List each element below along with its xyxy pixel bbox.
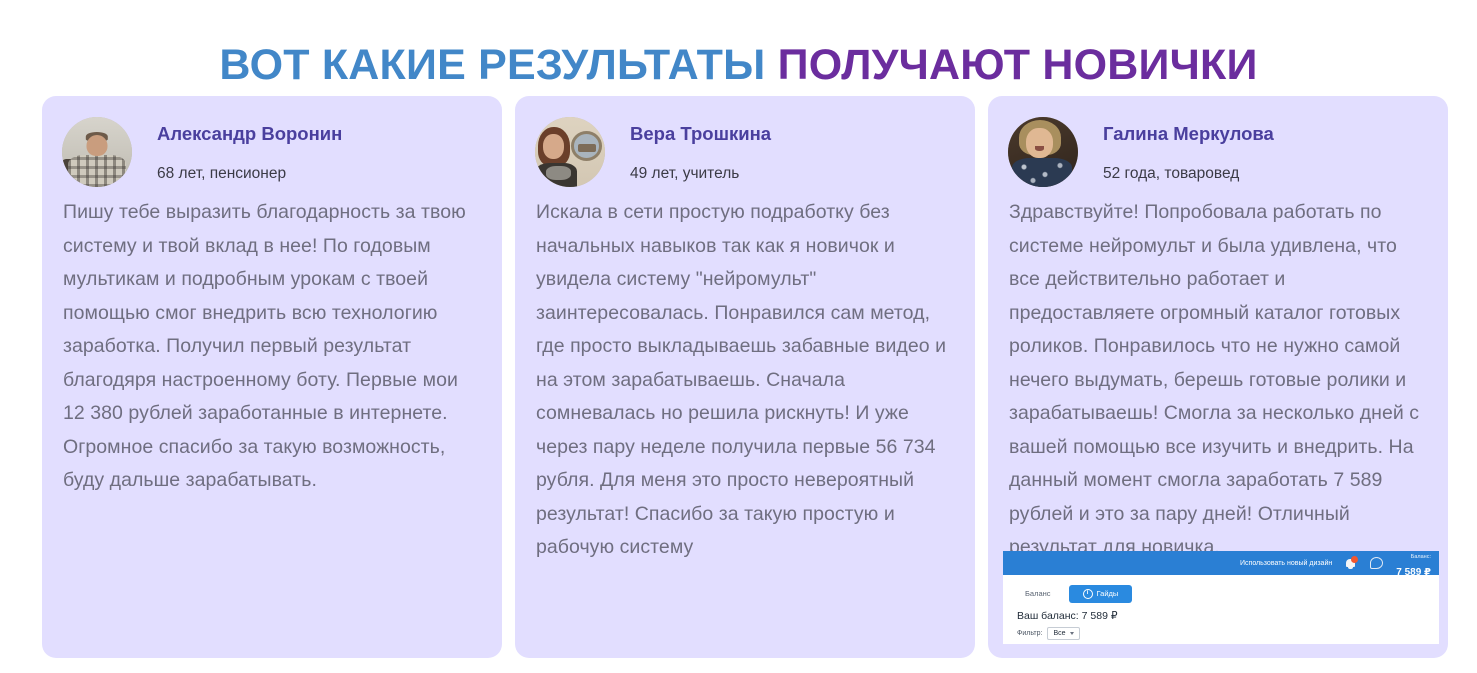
testimonial-person-meta: Александр Воронин 68 лет, пенсионер [132,117,342,184]
avatar-photo-man-icon [62,117,132,187]
testimonial-header: Галина Меркулова 52 года, товаровед [988,96,1448,188]
avatar [535,117,605,187]
person-name: Александр Воронин [157,122,342,146]
testimonial-person-meta: Галина Меркулова 52 года, товаровед [1078,117,1274,184]
chevron-down-icon [1070,632,1074,635]
testimonial-quote: Здравствуйте! Попробовала работать по си… [988,188,1448,565]
topbar-balance: Баланс: 7 589 ₽ [1396,551,1431,580]
tab-guides[interactable]: i Гайды [1069,585,1133,603]
filter-label: Фильтр: [1017,630,1042,637]
testimonial-header: Вера Трошкина 49 лет, учитель [515,96,975,188]
testimonial-card: Александр Воронин 68 лет, пенсионер Пишу… [42,96,502,658]
testimonial-card: Галина Меркулова 52 года, товаровед Здра… [988,96,1448,658]
testimonial-header: Александр Воронин 68 лет, пенсионер [42,96,502,188]
page-title-purple-part: ПОЛУЧАЮТ НОВИЧКИ [778,41,1258,89]
notification-bell-icon[interactable] [1345,556,1357,570]
topbar-balance-value: 7 589 ₽ [1396,567,1431,578]
testimonial-quote: Пишу тебе выразить благодарность за твою… [42,188,502,498]
info-circle-icon: i [1083,589,1093,599]
your-balance-row: Ваш баланс: 7 589 ₽ [1003,605,1439,622]
testimonials-page: ВОТ КАКИЕ РЕЗУЛЬТАТЫ ПОЛУЧАЮТ НОВИЧКИ Ал… [0,0,1477,673]
filter-row: Фильтр: Все [1003,622,1439,640]
person-name: Вера Трошкина [630,122,771,146]
page-title: ВОТ КАКИЕ РЕЗУЛЬТАТЫ ПОЛУЧАЮТ НОВИЧКИ [0,37,1477,93]
person-subtitle: 52 года, товаровед [1103,164,1274,184]
filter-select-value: Все [1053,630,1065,637]
use-new-design-link[interactable]: Использовать новый дизайн [1240,560,1332,567]
testimonial-card-list: Александр Воронин 68 лет, пенсионер Пишу… [42,96,1448,658]
person-subtitle: 49 лет, учитель [630,164,771,184]
testimonial-card: Вера Трошкина 49 лет, учитель Искала в с… [515,96,975,658]
page-title-blue-part: ВОТ КАКИЕ РЕЗУЛЬТАТЫ [219,41,765,89]
avatar-photo-woman-merchandiser-icon [1008,117,1078,187]
filter-select[interactable]: Все [1047,627,1079,640]
topbar-balance-label: Баланс: [1411,554,1431,560]
person-name: Галина Меркулова [1103,122,1274,146]
tab-balance[interactable]: Баланс [1017,585,1059,602]
testimonial-quote: Искала в сети простую подработку без нач… [515,188,975,565]
proof-tabs: Баланс i Гайды [1003,575,1439,605]
person-subtitle: 68 лет, пенсионер [157,164,342,184]
avatar [1008,117,1078,187]
proof-topbar: Использовать новый дизайн Баланс: 7 589 … [1003,551,1439,575]
avatar [62,117,132,187]
avatar-photo-woman-teacher-icon [535,117,605,187]
proof-screenshot: Использовать новый дизайн Баланс: 7 589 … [1003,551,1439,644]
tab-guides-label: Гайды [1097,589,1119,598]
chat-bubble-icon[interactable] [1370,557,1383,569]
testimonial-person-meta: Вера Трошкина 49 лет, учитель [605,117,771,184]
